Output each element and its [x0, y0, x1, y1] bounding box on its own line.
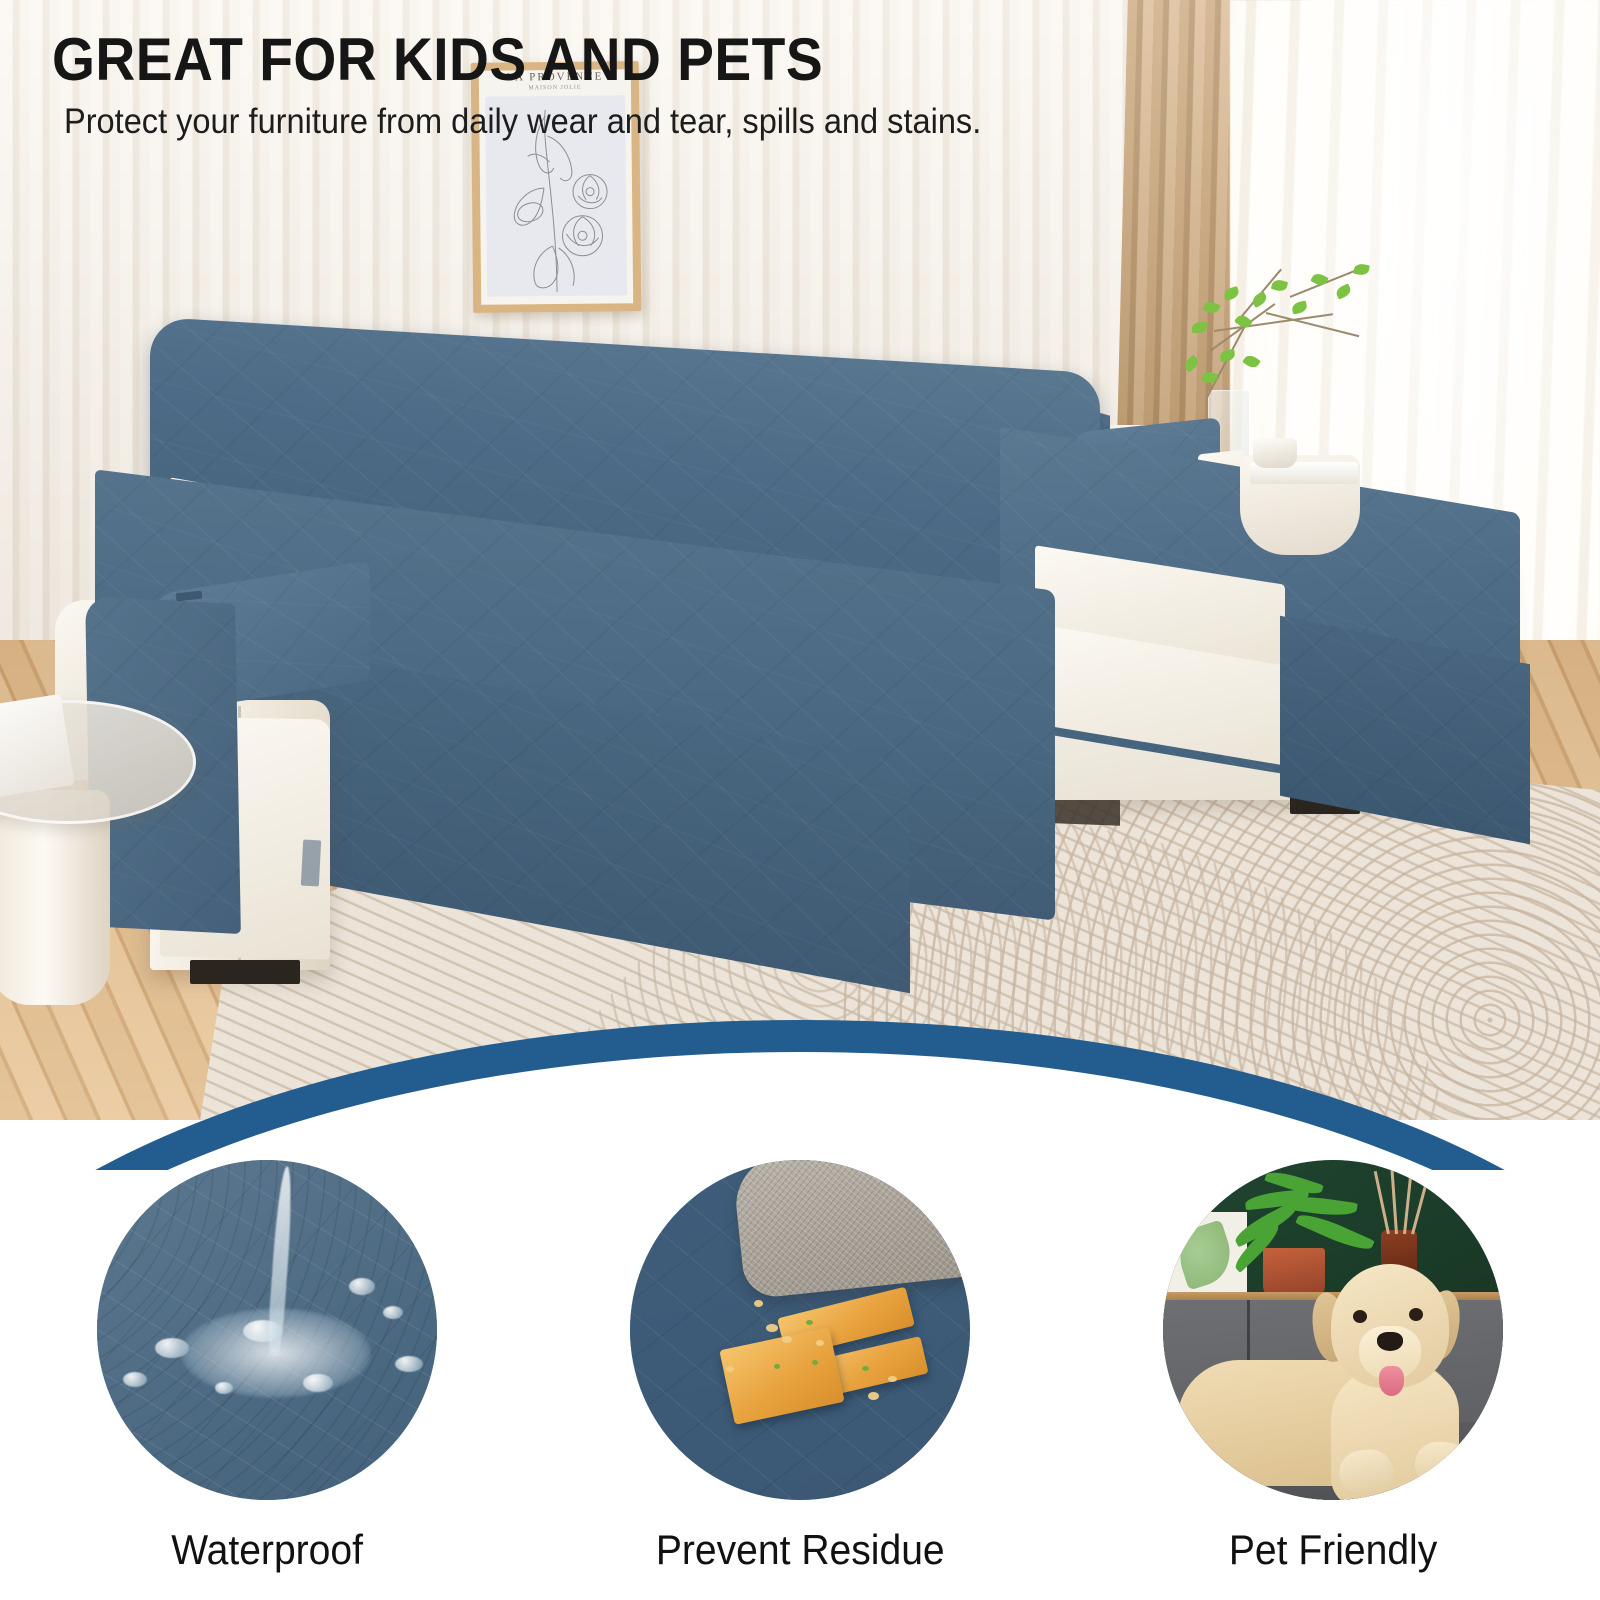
product-marketing-image: LA PROVENCE MAISON JOLIE	[0, 0, 1600, 1600]
water-bead	[243, 1320, 283, 1342]
feature-label-waterproof: Waterproof	[171, 1526, 363, 1574]
feature-pet-friendly: Pet Friendly	[1123, 1160, 1543, 1574]
water-bead	[123, 1372, 147, 1387]
page-subtitle: Protect your furniture from daily wear a…	[64, 104, 981, 139]
crumb	[816, 1340, 824, 1346]
feature-label-prevent-residue: Prevent Residue	[656, 1526, 945, 1574]
crumb	[754, 1300, 763, 1307]
feature-strip: Waterproof	[0, 1160, 1600, 1600]
water-bead	[383, 1306, 403, 1319]
cup-on-pedestal	[1253, 438, 1297, 468]
left-sofa-foot	[190, 960, 300, 984]
terracotta-pot	[1263, 1248, 1325, 1298]
pet-friendly-image	[1163, 1160, 1503, 1500]
herb-chip	[812, 1360, 818, 1365]
page-title: GREAT FOR KIDS AND PETS	[52, 30, 823, 90]
feature-label-pet-friendly: Pet Friendly	[1229, 1526, 1437, 1574]
water-bead	[215, 1382, 233, 1394]
crumb	[888, 1376, 897, 1382]
hero-scene: LA PROVENCE MAISON JOLIE	[0, 0, 1600, 1120]
crumb	[766, 1324, 778, 1332]
crumb	[868, 1392, 879, 1400]
herb-chip	[774, 1364, 780, 1369]
feature-waterproof: Waterproof	[57, 1160, 477, 1574]
feature-prevent-residue: Prevent Residue	[590, 1160, 1010, 1574]
potted-plant	[1221, 1170, 1391, 1260]
grey-cushion	[731, 1160, 970, 1300]
herb-chip	[806, 1320, 813, 1325]
water-bead	[395, 1356, 423, 1372]
crumb	[782, 1336, 792, 1343]
herb-chip	[862, 1366, 869, 1371]
prevent-residue-image	[630, 1160, 970, 1500]
water-bead	[349, 1278, 375, 1295]
water-bead	[155, 1338, 189, 1358]
sectional-sofa	[0, 0, 1600, 1120]
water-bead	[303, 1374, 333, 1392]
waterproof-image	[97, 1160, 437, 1500]
crumb	[726, 1366, 734, 1372]
cover-side-strap	[301, 840, 321, 887]
